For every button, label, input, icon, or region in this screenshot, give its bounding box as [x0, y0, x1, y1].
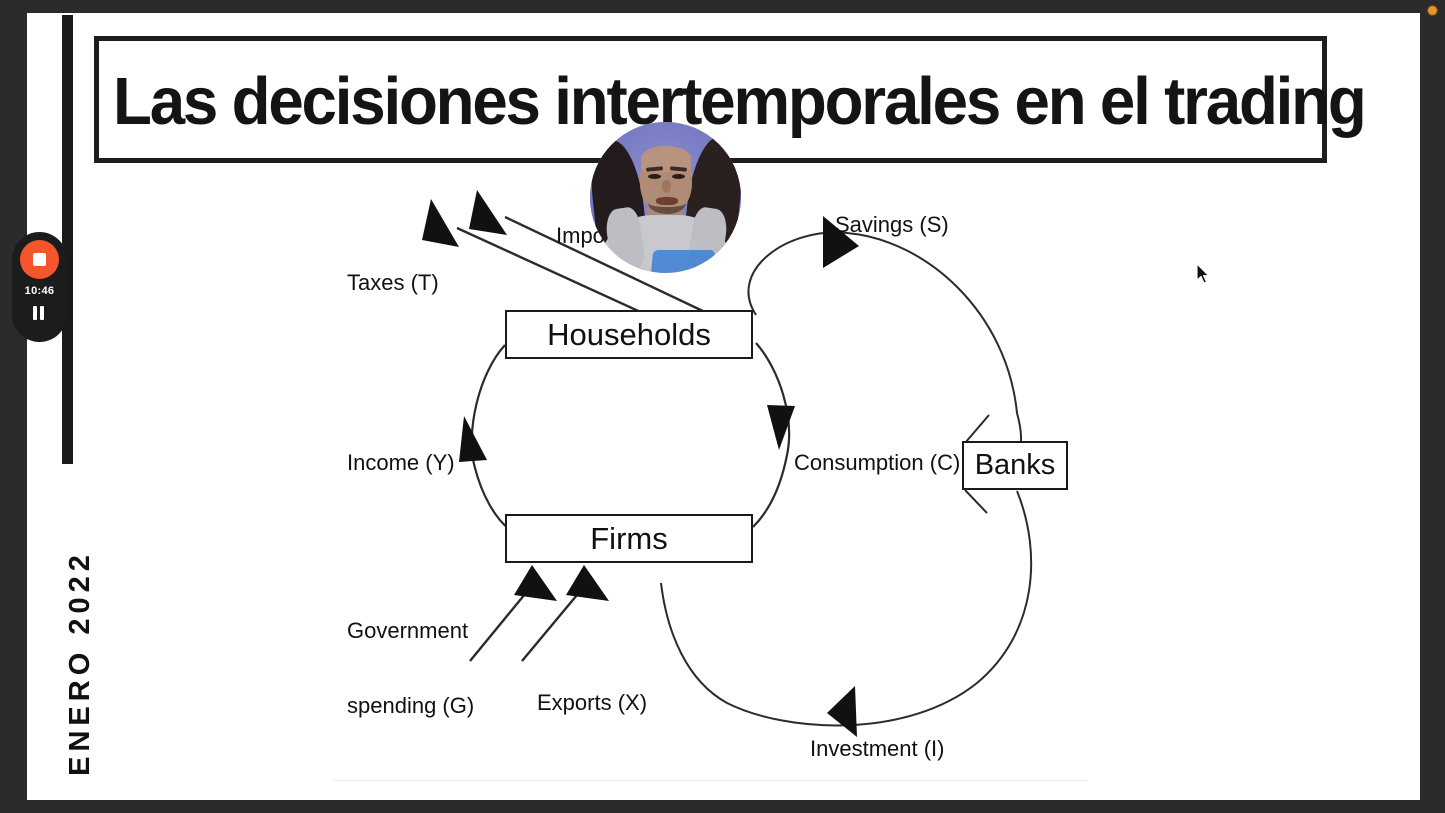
screen-root: ENERO 2022 Las decisiones intertemporale… — [0, 0, 1445, 813]
node-firms-label: Firms — [590, 521, 667, 557]
node-households-label: Households — [547, 317, 711, 353]
flow-label-exports: Exports (X) — [537, 690, 647, 715]
flow-label-government-spending: Government spending (G) — [347, 568, 474, 768]
diagram-node-firms[interactable]: Firms — [505, 514, 753, 563]
flow-label-consumption: Consumption (C) — [794, 450, 960, 475]
pause-bar-right-icon — [40, 306, 44, 320]
webcam-bubble[interactable] — [590, 122, 741, 273]
webcam-eye-left — [648, 174, 661, 179]
webcam-eye-right — [672, 174, 685, 179]
stop-square-icon — [33, 253, 46, 266]
stop-recording-button[interactable] — [20, 240, 59, 279]
flow-label-investment: Investment (I) — [810, 736, 944, 761]
slide-footer-divider — [333, 780, 1088, 781]
diagram-node-banks[interactable]: Banks — [962, 441, 1068, 490]
recording-indicator-dot — [1428, 6, 1437, 15]
flow-label-government-spending-line1: Government — [347, 618, 474, 643]
mouse-cursor — [1196, 263, 1212, 285]
screen-recorder-widget[interactable]: 10:46 — [12, 232, 67, 342]
flow-label-government-spending-line2: spending (G) — [347, 693, 474, 718]
webcam-hoodie-logo — [651, 250, 716, 273]
flow-label-income: Income (Y) — [347, 450, 455, 475]
recording-timer: 10:46 — [25, 285, 55, 297]
diagram-node-households[interactable]: Households — [505, 310, 753, 359]
webcam-mouth — [656, 197, 678, 205]
pause-recording-button[interactable] — [33, 306, 47, 320]
flow-label-taxes: Taxes (T) — [347, 270, 439, 295]
pause-bar-left-icon — [33, 306, 37, 320]
node-banks-label: Banks — [975, 449, 1056, 482]
flow-label-savings: Savings (S) — [835, 212, 949, 237]
